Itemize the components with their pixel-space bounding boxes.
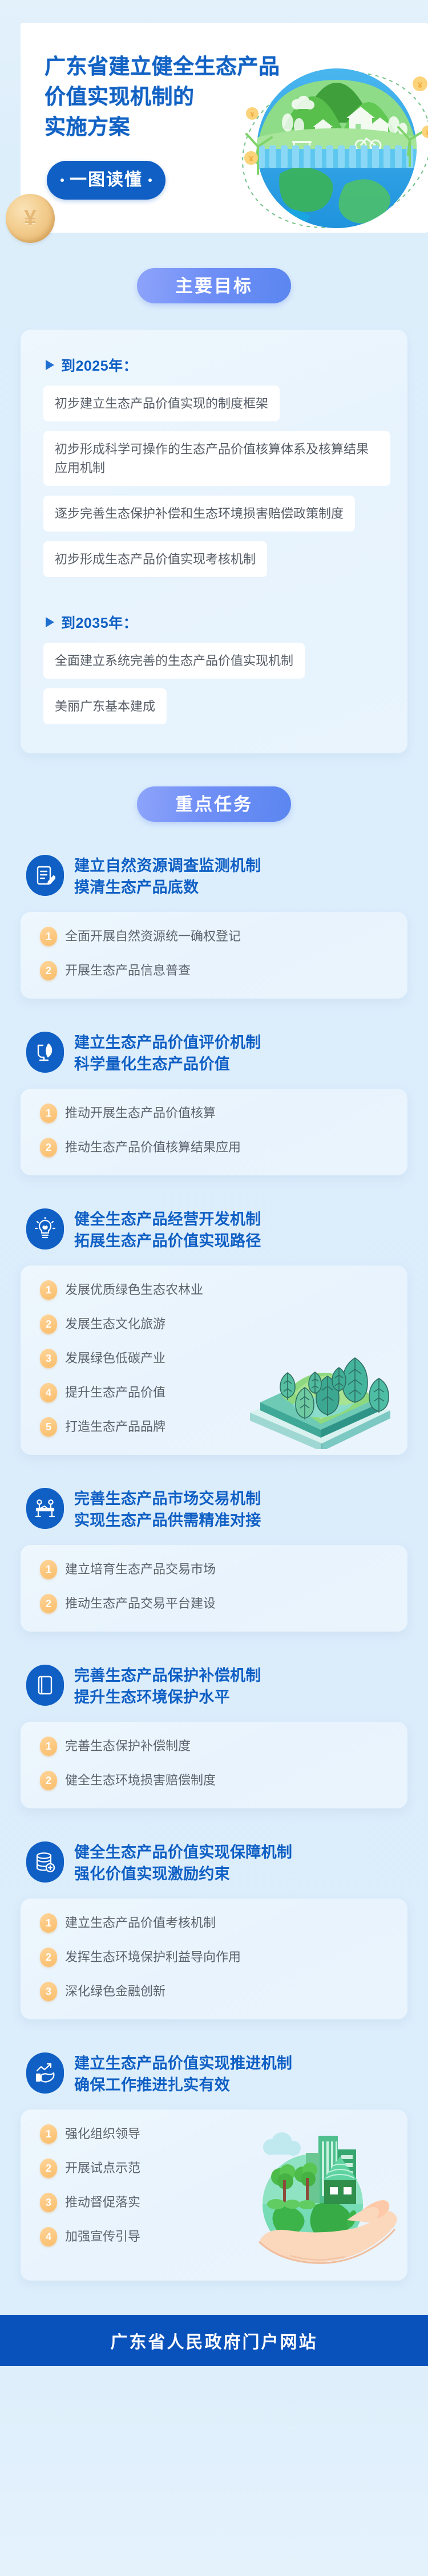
bullet-number: 1 — [40, 1104, 57, 1123]
bullet-number: 2 — [40, 1138, 57, 1157]
task-title-line-2: 实现生态产品供需精准对接 — [74, 1510, 261, 1531]
svg-text:¥: ¥ — [426, 129, 428, 137]
task-title-line-1: 健全生态产品经营开发机制 — [74, 1208, 261, 1230]
badge-dot-right — [148, 179, 152, 182]
goal-group-heading-2025: 到2025年： — [46, 355, 390, 375]
lightbulb-leaf-icon — [26, 1208, 64, 1250]
triangle-marker-icon — [46, 617, 54, 627]
task-title: 建立自然资源调查监测机制 摸清生态产品底数 — [74, 854, 261, 898]
leaf-measure-icon — [26, 1032, 64, 1073]
task-header: 完善生态产品保护补偿机制 提升生态环境保护水平 — [21, 1664, 407, 1708]
task-bullet-card: 1 全面开展自然资源统一确权登记 2 开展生态产品信息普查 — [21, 912, 407, 999]
task-block-3: 健全生态产品经营开发机制 拓展生态产品价值实现路径 — [0, 1207, 428, 1455]
goal-item: 初步建立生态产品价值实现的制度框架 — [43, 386, 280, 421]
task-title-line-2: 强化价值实现激励约束 — [74, 1863, 292, 1885]
bullet-item: 1 强化组织领导 — [40, 2124, 393, 2144]
task-title: 建立生态产品价值评价机制 科学量化生态产品价值 — [74, 1031, 261, 1075]
bullet-item: 4 提升生态产品价值 — [40, 1383, 393, 1402]
bullet-number: 2 — [40, 1771, 57, 1790]
task-block-5: 完善生态产品保护补偿机制 提升生态环境保护水平 1 完善生态保护补偿制度 2 健… — [0, 1664, 428, 1808]
goal-item: 初步形成科学可操作的生态产品价值核算体系及核算结果应用机制 — [43, 431, 390, 486]
task-title-line-1: 健全生态产品价值实现保障机制 — [74, 1841, 292, 1863]
task-title: 完善生态产品市场交易机制 实现生态产品供需精准对接 — [74, 1487, 261, 1531]
task-title-line-1: 完善生态产品市场交易机制 — [74, 1488, 261, 1510]
task-title-line-1: 建立自然资源调查监测机制 — [74, 855, 261, 877]
page-title-line-1: 广东省建立健全生态产品 — [45, 51, 290, 82]
badge-label: 一图读懂 — [70, 172, 143, 189]
task-title-line-2: 科学量化生态产品价值 — [74, 1053, 261, 1075]
bullet-number: 3 — [40, 1349, 57, 1368]
bullet-item: 3 深化绿色金融创新 — [40, 1982, 393, 2001]
bullet-text: 强化组织领导 — [65, 2125, 140, 2143]
bullet-text: 发展生态文化旅游 — [65, 1316, 165, 1333]
goal-item: 全面建立系统完善的生态产品价值实现机制 — [43, 643, 305, 679]
bullet-text: 全面开展自然资源统一确权登记 — [65, 928, 241, 945]
bullet-text: 开展生态产品信息普查 — [65, 962, 191, 979]
hero-banner: ¥ ¥ ¥ ¥ 广东省建立健全生态产品 价值实现机制的 实施方案 一图读懂 — [0, 0, 428, 268]
bullet-number: 3 — [40, 1982, 57, 2001]
bullet-item: 1 建立生态产品价值考核机制 — [40, 1913, 393, 1933]
goal-item: 初步形成生态产品价值实现考核机制 — [43, 541, 267, 577]
bullet-number: 2 — [40, 1315, 57, 1334]
bullet-item: 2 开展试点示范 — [40, 2159, 393, 2178]
task-header: 健全生态产品价值实现保障机制 强化价值实现激励约束 — [21, 1840, 407, 1885]
task-title: 健全生态产品经营开发机制 拓展生态产品价值实现路径 — [74, 1207, 261, 1252]
bullet-item: 2 推动生态产品交易平台建设 — [40, 1594, 393, 1613]
bullet-item: 2 推动生态产品价值核算结果应用 — [40, 1138, 393, 1157]
main-goals-section: 到2025年： 初步建立生态产品价值实现的制度框架 初步形成科学可操作的生态产品… — [0, 303, 428, 753]
bullet-text: 深化绿色金融创新 — [65, 1983, 165, 2000]
coin-stack-icon — [26, 1841, 64, 1883]
bullet-text: 建立培育生态产品交易市场 — [65, 1561, 216, 1578]
bullet-item: 2 发展生态文化旅游 — [40, 1315, 393, 1334]
bullet-number: 4 — [40, 1383, 57, 1402]
bullet-text: 推动生态产品价值核算结果应用 — [65, 1139, 241, 1156]
bullet-text: 推动督促落实 — [65, 2194, 140, 2211]
goal-heading-label: 到2025年： — [61, 355, 138, 375]
bullet-text: 发展绿色低碳产业 — [65, 1350, 165, 1367]
bullet-number: 4 — [40, 2227, 57, 2246]
goal-item: 逐步完善生态保护补偿和生态环境损害赔偿政策制度 — [43, 496, 355, 532]
bullet-text: 完善生态保护补偿制度 — [65, 1738, 191, 1755]
task-title: 健全生态产品价值实现保障机制 强化价值实现激励约束 — [74, 1840, 292, 1885]
bullet-text: 加强宣传引导 — [65, 2228, 140, 2245]
infographic-page: ¥ ¥ ¥ ¥ 广东省建立健全生态产品 价值实现机制的 实施方案 一图读懂 主要… — [0, 0, 428, 2576]
bullet-item: 4 加强宣传引导 — [40, 2227, 393, 2246]
goal-heading-label: 到2035年： — [61, 612, 138, 632]
bullet-text: 发展优质绿色生态农林业 — [65, 1281, 203, 1299]
bullet-number: 2 — [40, 961, 57, 980]
bullet-item: 1 全面开展自然资源统一确权登记 — [40, 927, 393, 946]
bullet-number: 2 — [40, 1948, 57, 1967]
task-block-2: 建立生态产品价值评价机制 科学量化生态产品价值 1 推动开展生态产品价值核算 2… — [0, 1031, 428, 1175]
book-icon — [26, 1665, 64, 1706]
task-bullet-card: 1 建立生态产品价值考核机制 2 发挥生态环境保护利益导向作用 3 深化绿色金融… — [21, 1898, 407, 2019]
section-header-main-goals: 主要目标 — [137, 268, 291, 303]
bullet-item: 2 健全生态环境损害赔偿制度 — [40, 1771, 393, 1790]
bullet-item: 1 推动开展生态产品价值核算 — [40, 1104, 393, 1123]
site-footer: 广东省人民政府门户网站 — [0, 2315, 428, 2366]
bullet-number: 5 — [40, 1417, 57, 1437]
bullet-number: 2 — [40, 1594, 57, 1613]
task-header: 建立生态产品价值实现推进机制 确保工作推进扎实有效 — [21, 2051, 407, 2096]
svg-text:¥: ¥ — [418, 80, 422, 90]
footer-spacer — [0, 2281, 428, 2315]
svg-text:¥: ¥ — [249, 155, 253, 163]
bullet-item: 2 发挥生态环境保护利益导向作用 — [40, 1948, 393, 1967]
footer-label: 广东省人民政府门户网站 — [111, 2328, 318, 2353]
task-header: 健全生态产品经营开发机制 拓展生态产品价值实现路径 — [21, 1207, 407, 1252]
bullet-number: 1 — [40, 1737, 57, 1756]
bullet-text: 推动开展生态产品价值核算 — [65, 1105, 216, 1122]
bullet-item: 1 完善生态保护补偿制度 — [40, 1737, 393, 1756]
main-goals-card: 到2025年： 初步建立生态产品价值实现的制度框架 初步形成科学可操作的生态产品… — [21, 330, 407, 753]
badge-dot-left — [60, 179, 64, 182]
task-block-7: 建立生态产品价值实现推进机制 确保工作推进扎实有效 — [0, 2051, 428, 2281]
bullet-text: 建立生态产品价值考核机制 — [65, 1914, 216, 1932]
goal-item: 美丽广东基本建成 — [43, 688, 167, 724]
clipboard-pen-icon — [26, 855, 64, 896]
task-title-line-2: 拓展生态产品价值实现路径 — [74, 1230, 261, 1252]
task-block-1: 建立自然资源调查监测机制 摸清生态产品底数 1 全面开展自然资源统一确权登记 2… — [0, 854, 428, 999]
bullet-item: 3 发展绿色低碳产业 — [40, 1349, 393, 1368]
page-title: 广东省建立健全生态产品 价值实现机制的 实施方案 — [45, 51, 290, 142]
bullet-text: 开展试点示范 — [65, 2160, 140, 2177]
task-title-line-2: 提升生态环境保护水平 — [74, 1686, 261, 1708]
goal-list-2025: 初步建立生态产品价值实现的制度框架 初步形成科学可操作的生态产品价值核算体系及核… — [38, 386, 390, 587]
bullet-item: 2 开展生态产品信息普查 — [40, 961, 393, 980]
goal-group-heading-2035: 到2035年： — [46, 612, 390, 632]
task-title-line-1: 建立生态产品价值实现推进机制 — [74, 2052, 292, 2074]
task-title-line-1: 完善生态产品保护补偿机制 — [74, 1665, 261, 1686]
task-bullet-card: 1 完善生态保护补偿制度 2 健全生态环境损害赔偿制度 — [21, 1722, 407, 1808]
task-title: 完善生态产品保护补偿机制 提升生态环境保护水平 — [74, 1664, 261, 1708]
page-title-line-2: 价值实现机制的 — [45, 82, 290, 112]
section-header-key-tasks-label: 重点任务 — [175, 796, 253, 813]
bullet-number: 1 — [40, 1913, 57, 1933]
section-header-key-tasks: 重点任务 — [137, 786, 291, 822]
task-title-line-2: 摸清生态产品底数 — [74, 877, 261, 898]
task-block-4: 完善生态产品市场交易机制 实现生态产品供需精准对接 1 建立培育生态产品交易市场… — [0, 1487, 428, 1632]
handshake-table-icon — [26, 1488, 64, 1529]
task-title: 建立生态产品价值实现推进机制 确保工作推进扎实有效 — [74, 2051, 292, 2096]
bullet-number: 1 — [40, 2124, 57, 2144]
task-bullet-card: 1 建立培育生态产品交易市场 2 推动生态产品交易平台建设 — [21, 1545, 407, 1632]
bullet-text: 发挥生态环境保护利益导向作用 — [65, 1949, 241, 1966]
bullet-number: 1 — [40, 927, 57, 946]
bullet-number: 1 — [40, 1280, 57, 1300]
read-at-a-glance-badge[interactable]: 一图读懂 — [47, 161, 165, 200]
bullet-item: 1 发展优质绿色生态农林业 — [40, 1280, 393, 1300]
task-bullet-card: 1 强化组织领导 2 开展试点示范 3 推动督促落实 4 加强宣传引导 — [21, 2110, 407, 2281]
triangle-marker-icon — [46, 360, 54, 370]
bullet-number: 3 — [40, 2193, 57, 2212]
bullet-text: 推动生态产品交易平台建设 — [65, 1595, 216, 1612]
bullet-item: 5 打造生态产品品牌 — [40, 1417, 393, 1437]
goal-list-2035: 全面建立系统完善的生态产品价值实现机制 美丽广东基本建成 — [38, 643, 390, 734]
task-header: 建立生态产品价值评价机制 科学量化生态产品价值 — [21, 1031, 407, 1075]
task-bullet-card: 1 推动开展生态产品价值核算 2 推动生态产品价值核算结果应用 — [21, 1089, 407, 1175]
task-title-line-1: 建立生态产品价值评价机制 — [74, 1032, 261, 1053]
bullet-item: 1 建立培育生态产品交易市场 — [40, 1560, 393, 1579]
bullet-text: 提升生态产品价值 — [65, 1384, 165, 1401]
yuan-coin-icon — [6, 194, 55, 243]
bullet-text: 健全生态环境损害赔偿制度 — [65, 1772, 216, 1789]
bullet-text: 打造生态产品品牌 — [65, 1418, 165, 1435]
task-header: 完善生态产品市场交易机制 实现生态产品供需精准对接 — [21, 1487, 407, 1531]
task-bullet-card: 1 发展优质绿色生态农林业 2 发展生态文化旅游 3 发展绿色低碳产业 4 提升… — [21, 1265, 407, 1455]
bullet-number: 2 — [40, 2159, 57, 2178]
task-title-line-2: 确保工作推进扎实有效 — [74, 2074, 292, 2096]
hand-growth-chart-icon — [26, 2052, 64, 2094]
section-header-main-goals-label: 主要目标 — [175, 277, 253, 295]
bullet-item: 3 推动督促落实 — [40, 2193, 393, 2212]
page-title-line-3: 实施方案 — [45, 112, 290, 142]
bullet-number: 1 — [40, 1560, 57, 1579]
task-header: 建立自然资源调查监测机制 摸清生态产品底数 — [21, 854, 407, 898]
task-block-6: 健全生态产品价值实现保障机制 强化价值实现激励约束 1 建立生态产品价值考核机制… — [0, 1840, 428, 2019]
